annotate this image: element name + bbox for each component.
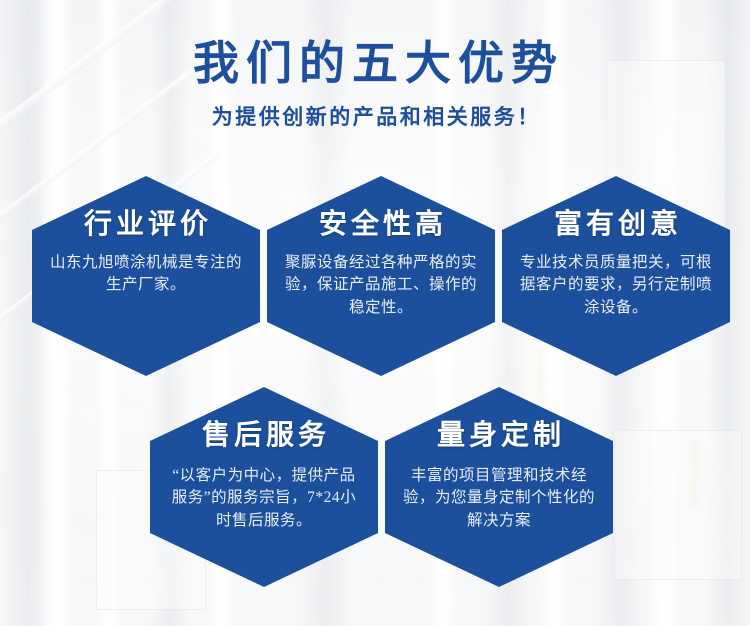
- advantage-body: 丰富的项目管理和技术经验，为您量身定制个性化的解决方案: [401, 465, 597, 532]
- advantage-card-after-sales-service[interactable]: 售后服务 “以客户为中心，提供产品服务”的服务宗旨，7*24小时售后服务。: [150, 387, 378, 587]
- advantage-body: 山东九旭喷涂机械是专注的生产厂家。: [48, 252, 244, 297]
- advantage-title: 售后服务: [198, 421, 330, 452]
- advantage-card-industry-reputation[interactable]: 行业评价 山东九旭喷涂机械是专注的生产厂家。: [32, 176, 260, 376]
- advantage-body: “以客户为中心，提供产品服务”的服务宗旨，7*24小时售后服务。: [166, 465, 362, 532]
- page-title: 我们的五大优势: [0, 38, 750, 90]
- header: 我们的五大优势 为提供创新的产品和相关服务！: [0, 38, 750, 131]
- page-subtitle: 为提供创新的产品和相关服务！: [0, 101, 750, 131]
- advantage-title: 安全性高: [315, 210, 447, 241]
- advantage-card-rich-creativity[interactable]: 富有创意 专业技术员质量把关，可根据客户的要求，另行定制喷涂设备。: [502, 176, 730, 376]
- advantage-body: 聚脲设备经过各种严格的实验，保证产品施工、操作的稳定性。: [283, 252, 479, 319]
- advantage-card-tailored-customization[interactable]: 量身定制 丰富的项目管理和技术经验，为您量身定制个性化的解决方案: [385, 387, 613, 587]
- advantage-title: 行业评价: [80, 210, 212, 241]
- advantage-title: 富有创意: [550, 210, 682, 241]
- advantage-card-high-safety[interactable]: 安全性高 聚脲设备经过各种严格的实验，保证产品施工、操作的稳定性。: [267, 176, 495, 376]
- advantage-title: 量身定制: [433, 421, 565, 452]
- advantage-body: 专业技术员质量把关，可根据客户的要求，另行定制喷涂设备。: [518, 252, 714, 319]
